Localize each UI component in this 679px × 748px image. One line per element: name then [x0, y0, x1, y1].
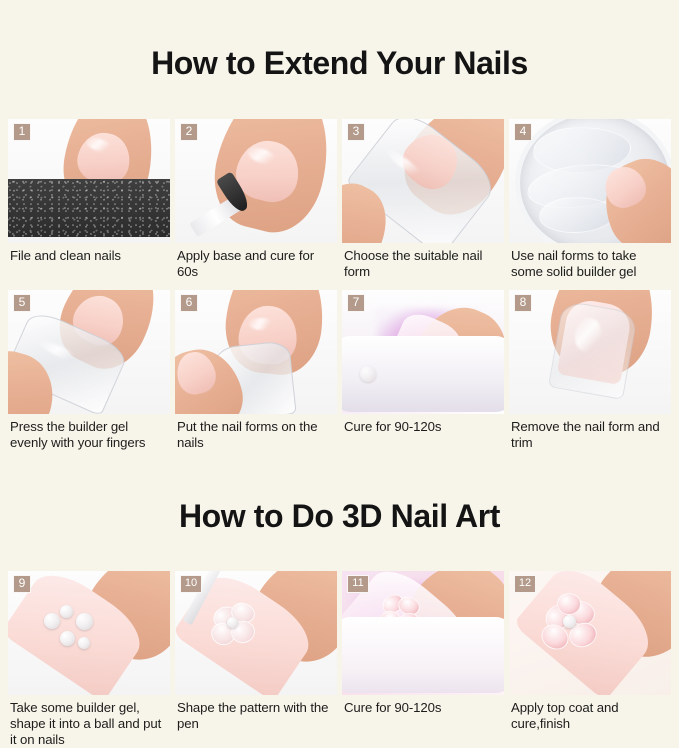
scene-scoop-builder-gel	[509, 119, 671, 243]
step-caption: Apply top coat and cure,finish	[509, 695, 671, 744]
step-caption: Cure for 90-120s	[342, 695, 504, 744]
step-number-badge: 12	[514, 575, 536, 593]
step-caption: Cure for 90-120s	[342, 414, 504, 463]
step-number-badge: 5	[13, 294, 31, 312]
step-card-2: 2 Apply base and cure for 60s	[175, 119, 337, 290]
step-image-12: 12	[509, 571, 671, 695]
step-number-badge: 9	[13, 575, 31, 593]
step-card-11: 11 Cure for 90-120s	[342, 571, 504, 748]
step-image-3: 3	[342, 119, 504, 243]
step-caption: Apply base and cure for 60s	[175, 243, 337, 290]
step-caption: Choose the suitable nail form	[342, 243, 504, 290]
step-card-4: 4 Use nail forms to take some solid buil…	[509, 119, 671, 290]
scene-apply-base-coat	[175, 119, 337, 243]
scene-cure-under-uv-lamp	[342, 290, 504, 414]
step-card-7: 7 Cure for 90-120s	[342, 290, 504, 463]
step-card-1: 1 File and clean nails	[8, 119, 170, 290]
step-caption: Remove the nail form and trim	[509, 414, 671, 463]
step-image-8: 8	[509, 290, 671, 414]
step-caption: Put the nail forms on the nails	[175, 414, 337, 463]
step-caption: Use nail forms to take some solid builde…	[509, 243, 671, 290]
scene-press-builder-gel	[8, 290, 170, 414]
section-title-extend-nails: How to Extend Your Nails	[0, 21, 679, 97]
step-caption: File and clean nails	[8, 243, 170, 290]
step-number-badge: 6	[180, 294, 198, 312]
step-image-1: 1	[8, 119, 170, 243]
scene-place-gel-balls	[8, 571, 170, 695]
scene-remove-form-and-trim	[509, 290, 671, 414]
scene-choose-nail-form	[342, 119, 504, 243]
step-number-badge: 7	[347, 294, 365, 312]
step-image-10: 10	[175, 571, 337, 695]
step-number-badge: 3	[347, 123, 365, 141]
step-image-4: 4	[509, 119, 671, 243]
step-card-12: 12 Apply top coat and cure,finish	[509, 571, 671, 748]
scene-file-and-clean	[8, 119, 170, 243]
step-image-6: 6	[175, 290, 337, 414]
step-image-5: 5	[8, 290, 170, 414]
steps-grid-row-3: 9 Take some builder gel, shape it into a…	[0, 571, 679, 748]
step-image-11: 11	[342, 571, 504, 695]
nail-tutorial-infographic: How to Extend Your Nails 1 File and clea…	[0, 21, 679, 700]
step-number-badge: 2	[180, 123, 198, 141]
step-caption: Take some builder gel, shape it into a b…	[8, 695, 170, 748]
steps-grid-row-2: 5 Press the builder gel evenly with your…	[0, 290, 679, 463]
step-number-badge: 11	[347, 575, 369, 593]
step-card-8: 8 Remove the nail form and trim	[509, 290, 671, 463]
step-image-7: 7	[342, 290, 504, 414]
section-title-3d-nail-art: How to Do 3D Nail Art	[0, 484, 679, 549]
scene-apply-form-to-nail	[175, 290, 337, 414]
step-number-badge: 10	[180, 575, 202, 593]
step-number-badge: 8	[514, 294, 532, 312]
step-image-9: 9	[8, 571, 170, 695]
step-caption: Shape the pattern with the pen	[175, 695, 337, 744]
step-card-5: 5 Press the builder gel evenly with your…	[8, 290, 170, 463]
step-number-badge: 1	[13, 123, 31, 141]
step-image-2: 2	[175, 119, 337, 243]
step-card-6: 6 Put the nail forms on the nails	[175, 290, 337, 463]
step-card-9: 9 Take some builder gel, shape it into a…	[8, 571, 170, 748]
step-card-3: 3 Choose the suitable nail form	[342, 119, 504, 290]
steps-grid-row-1: 1 File and clean nails 2 Apply base and …	[0, 119, 679, 290]
step-number-badge: 4	[514, 123, 532, 141]
step-caption: Press the builder gel evenly with your f…	[8, 414, 170, 463]
step-card-10: 10 Shape the pattern with the pen	[175, 571, 337, 748]
